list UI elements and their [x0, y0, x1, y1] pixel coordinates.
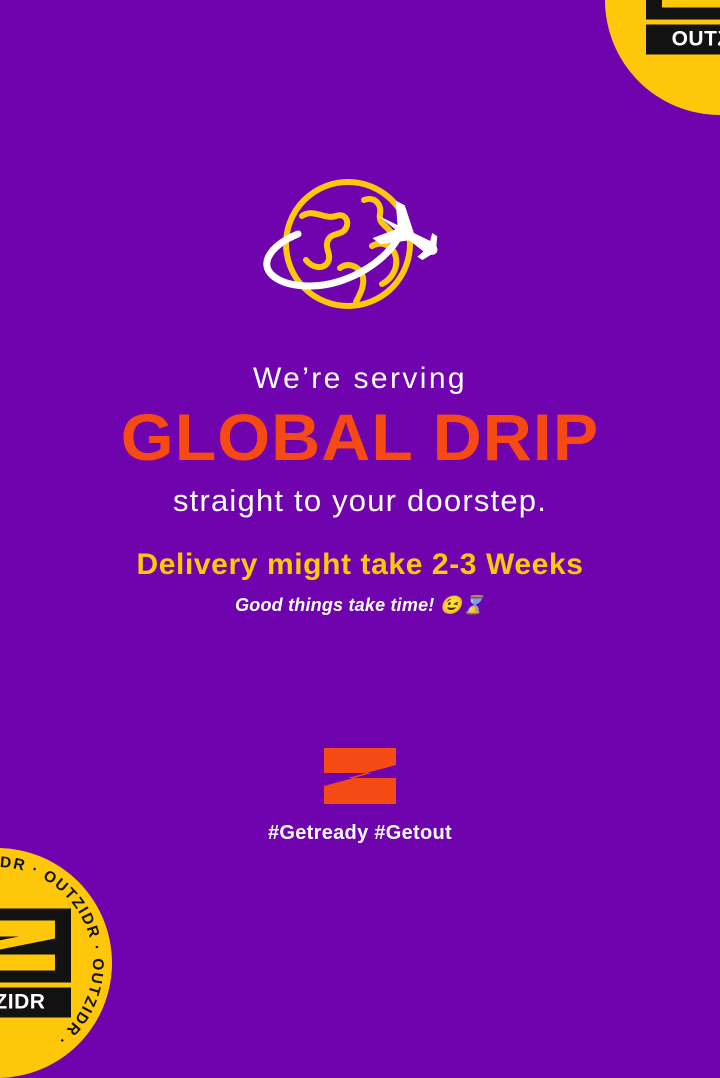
delivery-notice: Delivery might take 2-3 Weeks Good thing… — [0, 548, 720, 616]
outzidr-stamp-badge-top-right: OUTZIDR · OUTZIDR · OUTZIDR · OUTZIDR · … — [605, 0, 720, 115]
hero-illustration — [0, 172, 720, 337]
delivery-headline: Delivery might take 2-3 Weeks — [0, 548, 720, 583]
badge-z-mark-icon — [646, 0, 720, 20]
badge-wordmark: OUTZIDR — [0, 988, 71, 1018]
subheadline-text: straight to your doorstep. — [0, 484, 720, 518]
delivery-subnote: Good things take time! 😉⌛ — [0, 595, 720, 616]
badge-core: OUTZIDR — [646, 0, 720, 55]
eyebrow-text: We’re serving — [0, 362, 720, 395]
hashtag-text: #Getready #Getout — [0, 822, 720, 845]
outzidr-stamp-badge-bottom-left: OUTZIDR · OUTZIDR · OUTZIDR · OUTZIDR · … — [0, 848, 112, 1078]
badge-wordmark-label: OUTZIDR — [672, 28, 720, 52]
page-title: GLOBAL DRIP — [0, 403, 720, 472]
headline-block: We’re serving GLOBAL DRIP straight to yo… — [0, 362, 720, 518]
badge-z-mark-icon — [0, 909, 71, 983]
brand-z-logo-icon — [320, 748, 400, 804]
badge-wordmark: OUTZIDR — [646, 25, 720, 55]
badge-core: OUTZIDR — [0, 909, 71, 1018]
footer-brand: #Getready #Getout — [0, 748, 720, 845]
badge-wordmark-label: OUTZIDR — [0, 991, 45, 1015]
globe-with-airplane-icon — [240, 172, 480, 337]
